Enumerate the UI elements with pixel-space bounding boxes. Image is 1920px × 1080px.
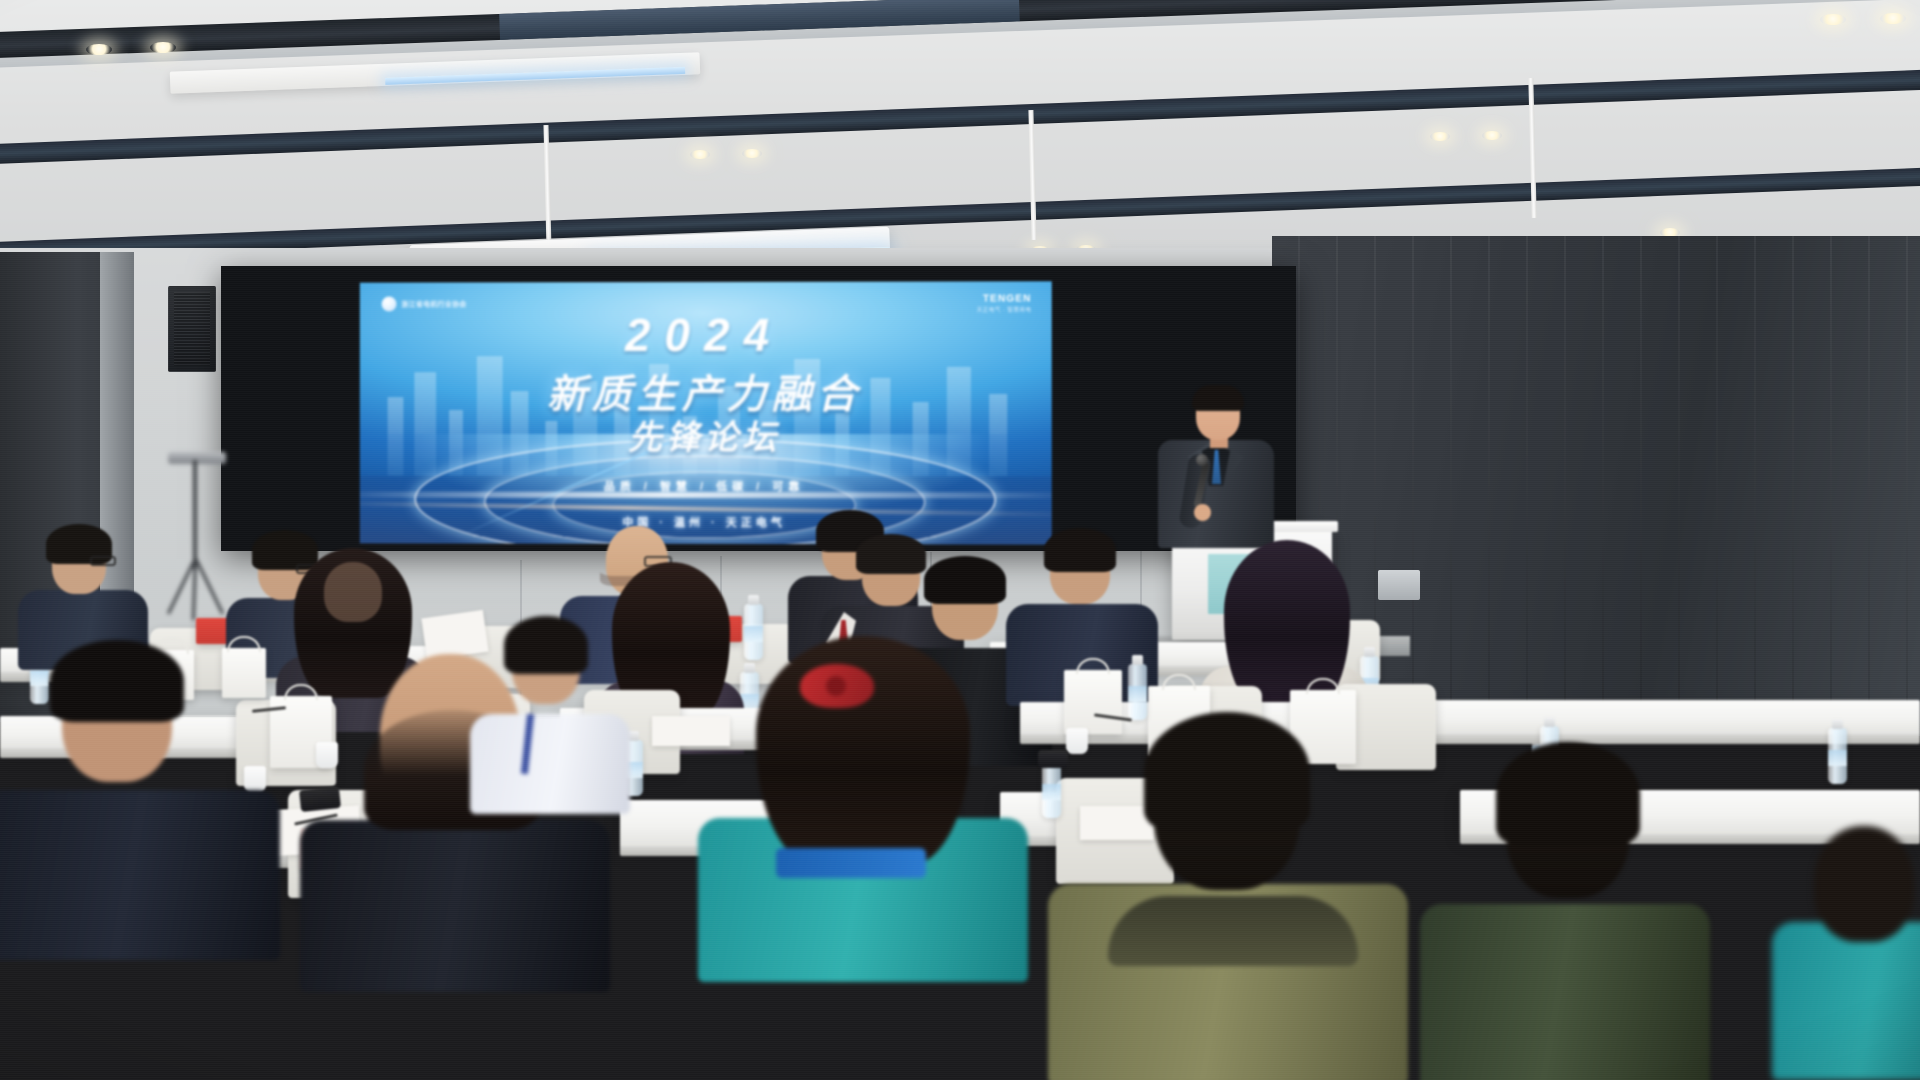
slide-title-line2: 先锋论坛 — [360, 410, 1052, 459]
mic-stand-pole — [193, 460, 197, 570]
downlight — [86, 44, 112, 55]
microphone-stand — [160, 460, 230, 620]
downlight — [1430, 132, 1450, 141]
conference-room-photo: 浙江省电机行业协会 TENGEN 天正电气 · 智慧用电 2024 新质生产力融… — [0, 0, 1920, 1080]
blue-collar-accent — [776, 848, 926, 878]
brand-name-text: TENGEN — [977, 293, 1032, 304]
downlight — [690, 150, 710, 159]
presenter-hair — [1192, 385, 1244, 411]
led-video-wall[interactable]: 浙江省电机行业协会 TENGEN 天正电气 · 智慧用电 2024 新质生产力融… — [360, 281, 1052, 544]
downlight — [1820, 14, 1846, 25]
downlight — [150, 42, 176, 53]
presenter-at-podium — [1158, 388, 1274, 548]
audience-woman-right-edge — [1772, 826, 1920, 1080]
downlight — [1880, 13, 1906, 24]
water-bottle — [1828, 728, 1847, 784]
slide-tagline: 品质 / 智慧 / 低碳 / 可靠 — [360, 478, 1052, 495]
audience-man-olive-hoodie — [1048, 712, 1408, 1080]
light-strip-glow — [385, 67, 685, 85]
audience-man-right-foreground — [1420, 742, 1710, 1080]
audience-man-dark-suit-foreground-left — [0, 640, 280, 940]
presenter-hand — [1194, 504, 1211, 521]
slide-year: 2024 — [360, 307, 1052, 362]
audience-woman-teal-top-red-bow — [698, 636, 1028, 950]
downlight — [1482, 131, 1502, 140]
mic-stand-leg — [194, 557, 224, 614]
red-hair-bow-knot — [826, 676, 846, 696]
mic-stand-tray — [168, 452, 226, 464]
presenter-glasses-icon — [1198, 410, 1238, 418]
microphone-head-icon — [1196, 454, 1208, 466]
pendant-rod — [1028, 110, 1036, 240]
wall-outlet-plate — [1378, 570, 1420, 600]
audience-woman-light-shirt-lanyard — [470, 618, 630, 808]
hoodie-hood — [1108, 896, 1358, 966]
glasses-icon — [90, 556, 116, 566]
downlight — [742, 149, 762, 158]
left-wall-speaker — [168, 286, 216, 372]
